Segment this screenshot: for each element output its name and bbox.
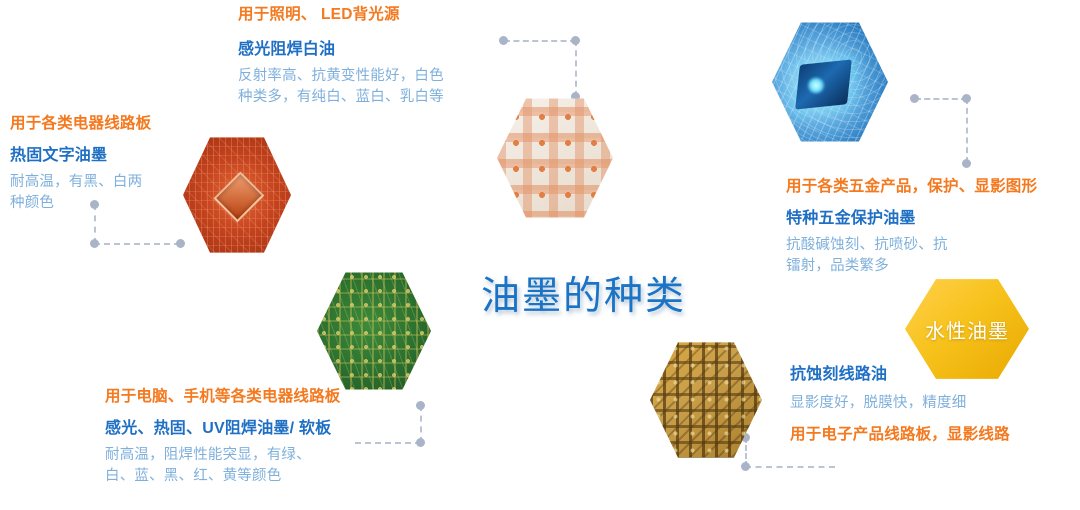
heading-line: 感光、热固、UV阻焊油墨/ 软板 [105,417,341,441]
connector-dot [910,94,919,103]
usage-line: 用于电脑、手机等各类电器线路板 [105,386,341,408]
connector-dot [741,462,750,471]
badge-label: 水性油墨 [925,315,1009,344]
body-line-2: 种颜色 [10,193,151,214]
text-block-solder-mask-ink: 用于电脑、手机等各类电器线路板 感光、热固、UV阻焊油墨/ 软板 耐高温，阻焊性… [105,386,341,487]
connector-segment [355,442,421,444]
heading-line: 抗蚀刻线路油 [790,363,1010,387]
infographic-canvas: 水性油墨 油墨的种类 用于照明、 LED背光源 感光阻焊白油 反射率高、抗黄变性… [0,0,1080,510]
body-line-1: 耐高温，阻焊性能突显，有绿、 [105,445,341,466]
connector-segment [504,40,576,42]
connector-dot [176,239,185,248]
text-block-solder-white: 用于照明、 LED背光源 感光阻焊白油 反射率高、抗黄变性能好，白色 种类多，有… [238,4,444,108]
body-line-2: 种类多，有纯白、蓝白、乳白等 [238,87,444,108]
solder-pads [317,270,431,392]
usage-line: 用于电子产品线路板，显影线路 [790,424,1010,446]
hex-led-panel [497,96,613,220]
connector-dot [416,401,425,410]
connector-segment [915,98,967,100]
body-line-1: 抗酸碱蚀刻、抗喷砂、抗 [786,235,1037,256]
connector-segment [575,40,577,97]
page-title: 油墨的种类 [481,265,686,321]
hex-green-board [317,270,431,392]
connector-dot [90,239,99,248]
connector-segment [745,466,835,468]
connector-dot [962,94,971,103]
connector-dot [416,438,425,447]
connector-dot [499,36,508,45]
connector-segment [94,243,180,245]
connector-dot [962,159,971,168]
body-line-1: 显影度好，脱膜快，精度细 [790,393,1010,414]
body-line-2: 白、蓝、黑、红、黄等颜色 [105,466,341,487]
usage-line: 用于各类五金产品，保护、显影图形 [786,176,1037,198]
usage-line: 用于各类电器线路板 [10,113,151,135]
body-line-1: 反射率高、抗黄变性能好，白色 [238,66,444,87]
connector-dot [571,36,580,45]
heading-line: 特种五金保护油墨 [786,207,1037,231]
text-block-metal-protect-ink: 用于各类五金产品，保护、显影图形 特种五金保护油墨 抗酸碱蚀刻、抗喷砂、抗 镭射… [786,176,1037,277]
connector-segment [966,98,968,163]
text-block-etch-resist-ink: 抗蚀刻线路油 显影度好，脱膜快，精度细 用于电子产品线路板，显影线路 [790,363,1010,446]
hex-red-board [183,135,291,255]
body-line-2: 镭射，品类繁多 [786,256,1037,277]
hex-blue-chip [772,20,888,144]
led-pads [497,96,613,220]
heading-line: 感光阻焊白油 [238,38,444,62]
heading-line: 热固文字油墨 [10,144,151,168]
text-block-thermal-legend-ink: 用于各类电器线路板 热固文字油墨 耐高温，有黑、白两 种颜色 [10,113,151,214]
usage-line: 用于照明、 LED背光源 [238,4,444,26]
body-line-1: 耐高温，有黑、白两 [10,172,151,193]
